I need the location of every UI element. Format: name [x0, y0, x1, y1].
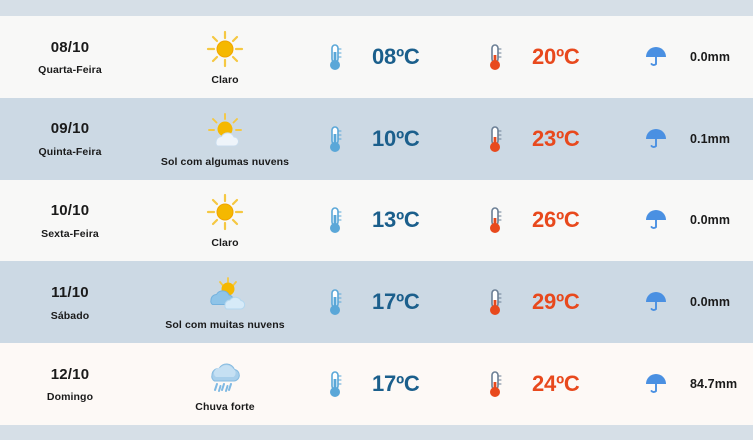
condition-cell: Claro — [140, 28, 310, 86]
temp-min-value: 10ºC — [372, 126, 420, 152]
thermometer-hot-icon — [478, 124, 512, 154]
sun-icon — [140, 28, 310, 70]
condition-label: Sol com algumas nuvens — [140, 156, 310, 168]
thermometer-hot-icon — [478, 287, 512, 317]
condition-label: Sol com muitas nuvens — [140, 319, 310, 331]
condition-cell: Sol com algumas nuvens — [140, 110, 310, 168]
condition-label: Chuva forte — [140, 401, 310, 413]
temp-max-value: 24ºC — [532, 371, 580, 397]
date-value: 10/10 — [0, 201, 140, 221]
precipitation-value: 0.1mm — [690, 132, 730, 146]
temp-min-cell: 17ºC — [310, 369, 470, 399]
weekday-value: Sexta-Feira — [0, 228, 140, 240]
temp-max-cell: 29ºC — [470, 287, 630, 317]
temp-min-cell: 08ºC — [310, 42, 470, 72]
rain-cloud-icon — [140, 355, 310, 397]
temp-max-cell: 23ºC — [470, 124, 630, 154]
temp-min-cell: 17ºC — [310, 287, 470, 317]
temp-max-value: 29ºC — [532, 289, 580, 315]
thermometer-cold-icon — [318, 287, 352, 317]
date-cell: 12/10 Domingo — [0, 365, 140, 404]
date-cell: 09/10 Quinta-Feira — [0, 119, 140, 158]
precipitation-cell: 84.7mm — [630, 371, 753, 397]
temp-max-cell: 24ºC — [470, 369, 630, 399]
umbrella-icon — [636, 289, 676, 315]
sun-icon — [140, 191, 310, 233]
temp-max-value: 26ºC — [532, 207, 580, 233]
thermometer-cold-icon — [318, 124, 352, 154]
table-row[interactable]: 12/10 Domingo — [0, 343, 753, 425]
weekday-value: Quinta-Feira — [0, 146, 140, 158]
temp-min-cell: 13ºC — [310, 205, 470, 235]
umbrella-icon — [636, 371, 676, 397]
table-row[interactable]: 10/10 Sexta-Feira — [0, 180, 753, 262]
temp-min-cell: 10ºC — [310, 124, 470, 154]
thermometer-cold-icon — [318, 205, 352, 235]
condition-cell: Sol com muitas nuvens — [140, 273, 310, 331]
temp-max-value: 20ºC — [532, 44, 580, 70]
sun-many-clouds-icon — [140, 273, 310, 315]
precipitation-cell: 0.0mm — [630, 44, 753, 70]
umbrella-icon — [636, 207, 676, 233]
table-row[interactable]: 08/10 Quarta-Feira — [0, 16, 753, 98]
date-cell: 10/10 Sexta-Feira — [0, 201, 140, 240]
forecast-row-list: 08/10 Quarta-Feira — [0, 16, 753, 425]
weather-forecast-widget: 08/10 Quarta-Feira — [0, 0, 753, 440]
date-value: 12/10 — [0, 365, 140, 385]
temp-max-cell: 26ºC — [470, 205, 630, 235]
precipitation-cell: 0.0mm — [630, 207, 753, 233]
precipitation-cell: 0.1mm — [630, 126, 753, 152]
top-band — [0, 0, 753, 16]
precipitation-cell: 0.0mm — [630, 289, 753, 315]
precipitation-value: 0.0mm — [690, 213, 730, 227]
thermometer-cold-icon — [318, 42, 352, 72]
precipitation-value: 0.0mm — [690, 50, 730, 64]
thermometer-hot-icon — [478, 205, 512, 235]
umbrella-icon — [636, 44, 676, 70]
thermometer-hot-icon — [478, 42, 512, 72]
date-cell: 11/10 Sábado — [0, 283, 140, 322]
table-row[interactable]: 09/10 Quinta-Feira — [0, 98, 753, 180]
temp-max-cell: 20ºC — [470, 42, 630, 72]
temp-min-value: 13ºC — [372, 207, 420, 233]
condition-label: Claro — [140, 237, 310, 249]
condition-cell: Chuva forte — [140, 355, 310, 413]
thermometer-hot-icon — [478, 369, 512, 399]
date-value: 11/10 — [0, 283, 140, 303]
weekday-value: Domingo — [0, 391, 140, 403]
umbrella-icon — [636, 126, 676, 152]
date-value: 09/10 — [0, 119, 140, 139]
precipitation-value: 0.0mm — [690, 295, 730, 309]
precipitation-value: 84.7mm — [690, 377, 737, 391]
bottom-band — [0, 425, 753, 440]
temp-max-value: 23ºC — [532, 126, 580, 152]
condition-label: Claro — [140, 74, 310, 86]
date-cell: 08/10 Quarta-Feira — [0, 38, 140, 77]
thermometer-cold-icon — [318, 369, 352, 399]
weekday-value: Sábado — [0, 310, 140, 322]
table-row[interactable]: 11/10 Sábado Sol com — [0, 261, 753, 343]
date-value: 08/10 — [0, 38, 140, 58]
temp-min-value: 08ºC — [372, 44, 420, 70]
temp-min-value: 17ºC — [372, 289, 420, 315]
temp-min-value: 17ºC — [372, 371, 420, 397]
sun-small-cloud-icon — [140, 110, 310, 152]
condition-cell: Claro — [140, 191, 310, 249]
weekday-value: Quarta-Feira — [0, 64, 140, 76]
